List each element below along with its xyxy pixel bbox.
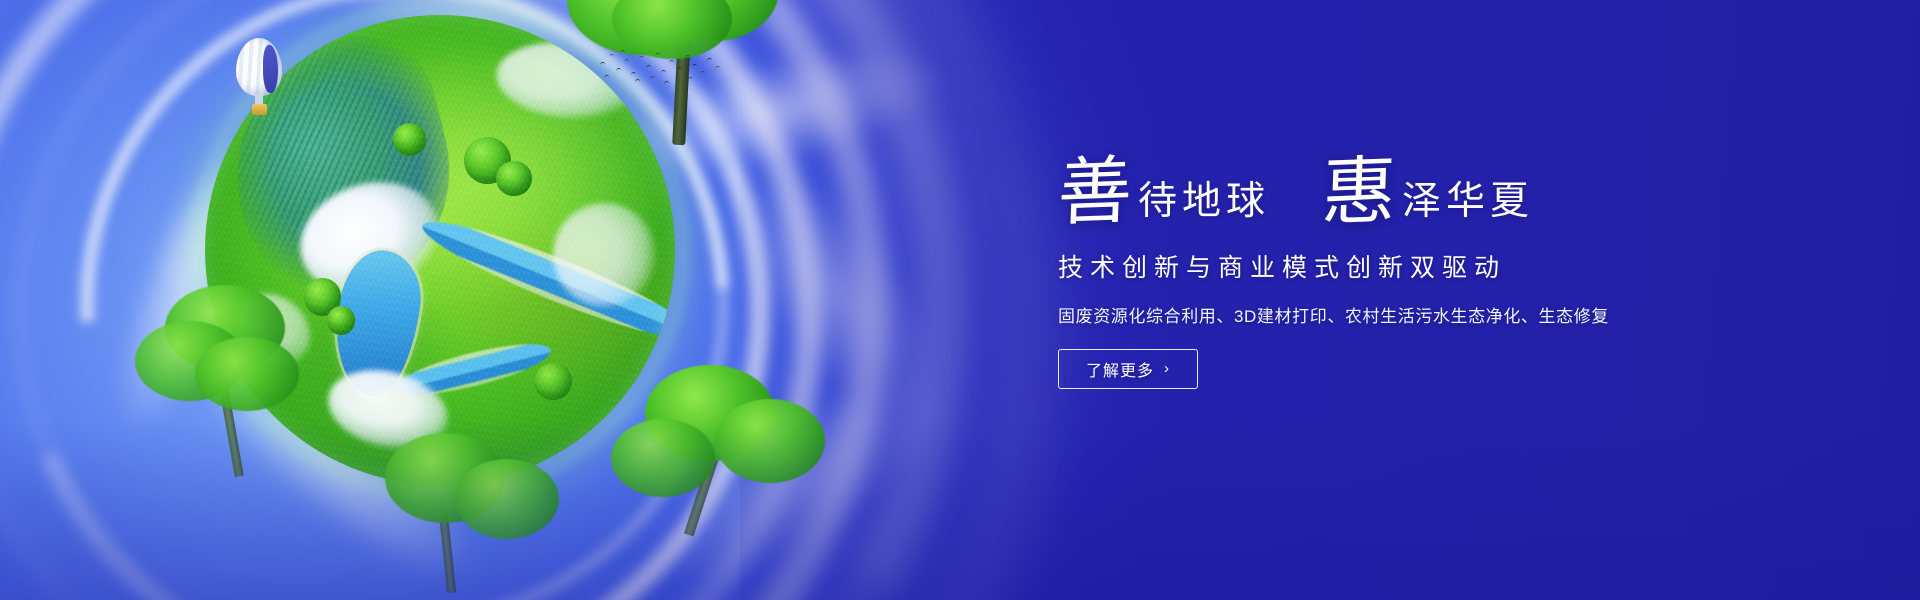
learn-more-label: 了解更多 xyxy=(1086,357,1154,381)
hero-text-block: 善 待地球 惠 泽华夏 技术创新与商业模式创新双驱动 固废资源化综合利用、3D建… xyxy=(1058,140,1698,389)
headline-char-shan: 善 xyxy=(1057,157,1134,228)
hero-banner: 善 待地球 惠 泽华夏 技术创新与商业模式创新双驱动 固废资源化综合利用、3D建… xyxy=(0,0,1920,600)
learn-more-button[interactable]: 了解更多 › xyxy=(1058,349,1198,389)
bottom-vignette xyxy=(0,420,1920,600)
headline-zehuaxia: 泽华夏 xyxy=(1402,182,1534,226)
chevron-right-icon: › xyxy=(1164,361,1170,376)
page-title: 善 待地球 惠 泽华夏 xyxy=(1058,140,1698,226)
headline-char-hui: 惠 xyxy=(1321,157,1398,228)
birds-flock-icon xyxy=(598,48,728,88)
balloon-basket xyxy=(252,104,267,115)
tree-crown xyxy=(195,337,299,411)
balloon-stripe xyxy=(263,45,278,93)
hero-description: 固废资源化综合利用、3D建材打印、农村生活污水生态净化、生态修复 xyxy=(1058,302,1698,327)
headline-daidiqiu: 待地球 xyxy=(1138,182,1270,226)
balloon-neck xyxy=(255,94,263,104)
hot-air-balloon-icon xyxy=(236,38,282,124)
hero-subtitle: 技术创新与商业模式创新双驱动 xyxy=(1058,248,1698,284)
